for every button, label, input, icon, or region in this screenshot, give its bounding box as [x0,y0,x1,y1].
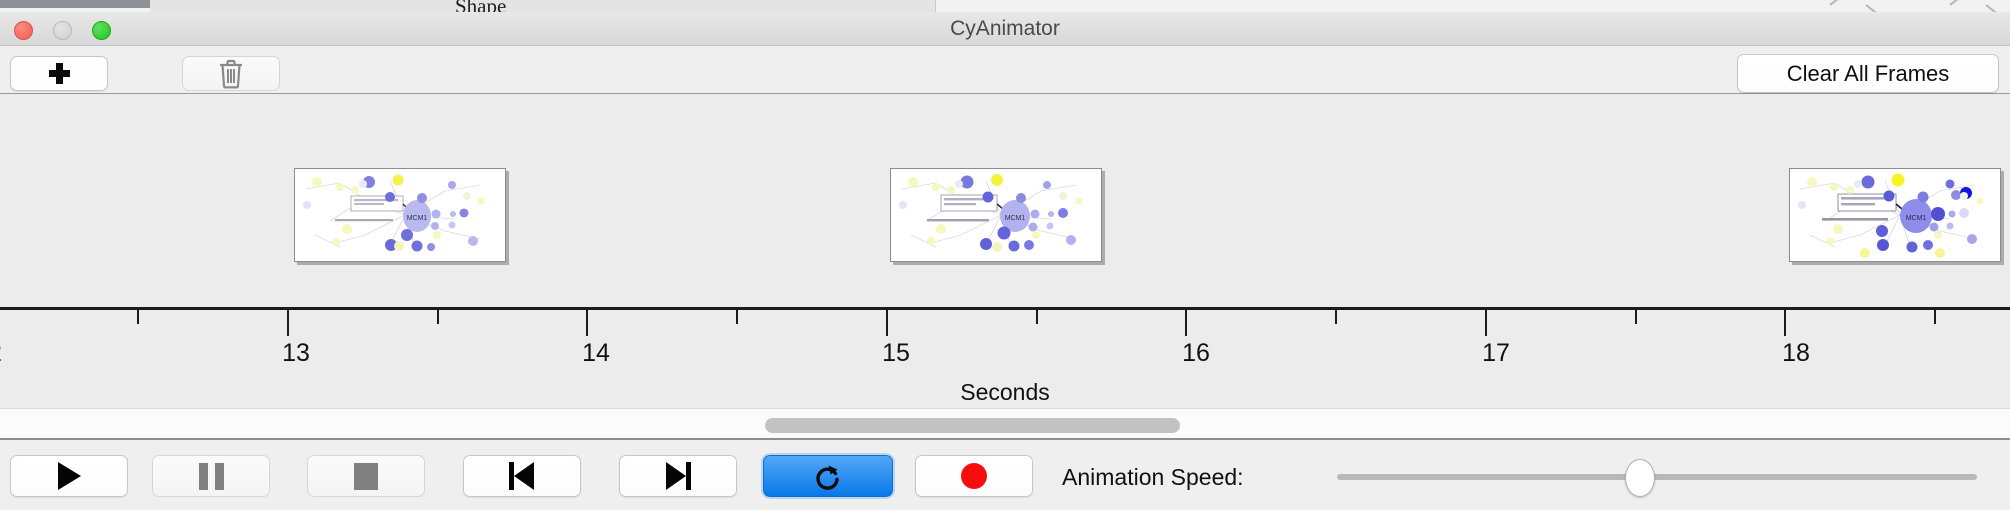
axis-tick-label: 18 [1782,339,1810,368]
plus-icon [49,63,70,84]
loop-icon [813,461,843,491]
axis-tick-major [886,310,888,336]
window-title: CyAnimator [0,12,2010,46]
axis-tick-minor [137,310,139,324]
axis-tick-label: 14 [582,339,610,368]
timeline-frame-thumbnail[interactable]: MCM1 [294,168,506,262]
timeline-panel[interactable]: MCM1 [0,94,2010,406]
pause-button[interactable] [152,455,270,497]
delete-frame-button[interactable] [182,56,280,91]
clear-all-frames-button[interactable]: Clear All Frames [1737,54,1999,93]
timeline-frame-thumbnail[interactable]: MCM1 [1789,168,2001,262]
axis-tick-label: 15 [882,339,910,368]
skip-to-start-button[interactable] [463,455,581,497]
axis-tick-minor [1934,310,1936,324]
axis-tick-major [1185,310,1187,336]
play-button[interactable] [10,455,128,497]
animation-speed-label: Animation Speed: [1062,464,1244,491]
stop-button[interactable] [307,455,425,497]
trash-icon [218,59,244,89]
timeline-scrollbar[interactable] [0,408,2010,440]
title-bar: CyAnimator [0,12,2010,47]
axis-tick-label: 2 [0,339,2,368]
axis-tick-minor [1635,310,1637,324]
add-frame-button[interactable] [10,56,108,91]
axis-tick-major [586,310,588,336]
axis-tick-minor [1036,310,1038,324]
axis-title-seconds: Seconds [0,379,2010,406]
axis-tick-label: 17 [1482,339,1510,368]
transport-toolbar: Animation Speed: [0,442,2010,510]
background-window-text: Shape [455,0,506,12]
axis-tick-minor [736,310,738,324]
loop-button[interactable] [763,455,893,497]
skip-to-end-button[interactable] [619,455,737,497]
top-toolbar: Clear All Frames [0,46,2010,94]
svg-text:MCM1: MCM1 [1906,215,1927,222]
pause-icon [199,463,224,490]
stop-icon [354,463,378,490]
timeline-axis [0,307,2010,310]
animation-speed-slider[interactable] [1337,474,1977,480]
cyanimator-window: Shape CyAnimator Clear All Frames [0,0,2010,510]
axis-tick-major [1485,310,1487,336]
scrollbar-thumb[interactable] [765,418,1180,433]
record-button[interactable] [915,455,1033,497]
axis-tick-label: 16 [1182,339,1210,368]
axis-tick-minor [1335,310,1337,324]
axis-tick-major [1784,310,1786,336]
axis-tick-label: 13 [282,339,310,368]
background-window-strip: Shape [0,0,2010,12]
skip-to-end-icon [665,462,691,490]
record-icon [961,463,987,489]
play-icon [58,462,81,490]
timeline-frame-thumbnail[interactable]: MCM1 [890,168,1102,262]
axis-tick-minor [437,310,439,324]
svg-text:MCM1: MCM1 [407,215,428,222]
slider-thumb[interactable] [1625,459,1655,497]
slider-rail [1337,474,1977,480]
skip-to-start-icon [509,462,535,490]
axis-tick-major [287,310,289,336]
svg-text:MCM1: MCM1 [1005,215,1026,222]
